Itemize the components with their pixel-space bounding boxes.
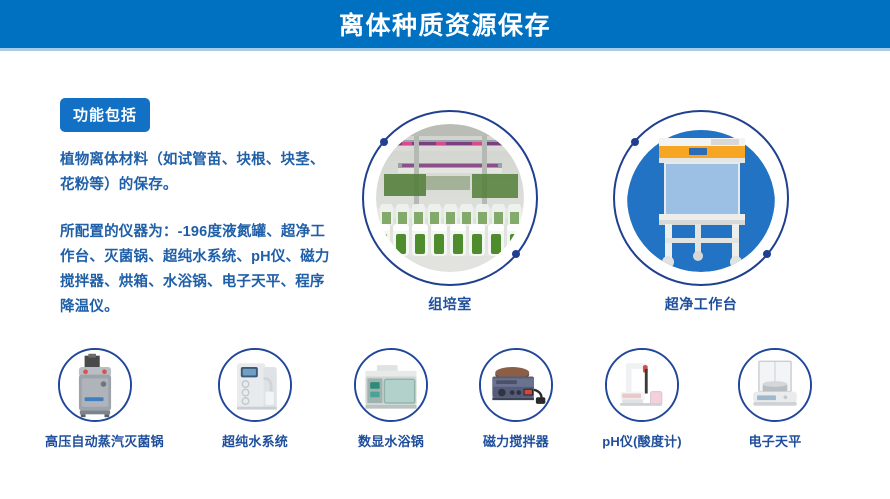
autoclave-photo (58, 348, 132, 422)
tissue-culture-room-photo (376, 124, 524, 272)
small-circle-label: 数显水浴锅 (341, 431, 441, 450)
orbit-dot-icon (763, 250, 771, 258)
small-circle-label: 磁力搅拌器 (466, 431, 566, 450)
ultrapure-water-system-photo (218, 348, 292, 422)
small-circle-label: pH仪(酸度计) (592, 431, 692, 450)
page-title: 离体种质资源保存 (339, 6, 551, 42)
feature-badge: 功能包括 (60, 98, 150, 132)
big-circle-tissue-culture-room[interactable]: 组培室 (362, 110, 538, 320)
small-circle-ph-meter[interactable]: pH仪(酸度计) (592, 348, 692, 450)
big-circle-label: 组培室 (362, 294, 538, 314)
small-circle-label: 超纯水系统 (205, 431, 305, 450)
clean-bench-photo (627, 124, 775, 272)
small-circle-electronic-balance[interactable]: 电子天平 (725, 348, 825, 450)
magnetic-stirrer-photo (479, 348, 553, 422)
small-circle-magnetic-stirrer[interactable]: 磁力搅拌器 (466, 348, 566, 450)
ph-meter-photo (605, 348, 679, 422)
header-bar: 离体种质资源保存 (0, 0, 890, 48)
orbit-dot-icon (631, 138, 639, 146)
small-circle-ultrapure-water-system[interactable]: 超纯水系统 (205, 348, 305, 450)
electronic-balance-photo (738, 348, 812, 422)
small-circle-water-bath[interactable]: 数显水浴锅 (341, 348, 441, 450)
small-circle-label: 高压自动蒸汽灭菌锅 (45, 431, 145, 450)
small-circle-label: 电子天平 (725, 431, 825, 450)
orbit-dot-icon (512, 250, 520, 258)
big-circle-clean-bench[interactable]: 超净工作台 (613, 110, 789, 320)
feature-panel: 功能包括 植物离体材料（如试管苗、块根、块茎、花粉等）的保存。 所配置的仪器为：… (60, 98, 335, 320)
header-underline (0, 48, 890, 51)
small-circle-autoclave[interactable]: 高压自动蒸汽灭菌锅 (45, 348, 145, 450)
big-circle-label: 超净工作台 (613, 294, 789, 314)
orbit-dot-icon (380, 138, 388, 146)
water-bath-photo (354, 348, 428, 422)
feature-paragraph-1: 植物离体材料（如试管苗、块根、块茎、花粉等）的保存。 (60, 148, 335, 198)
feature-paragraph-2: 所配置的仪器为：-196度液氮罐、超净工作台、灭菌锅、超纯水系统、pH仪、磁力搅… (60, 220, 335, 320)
